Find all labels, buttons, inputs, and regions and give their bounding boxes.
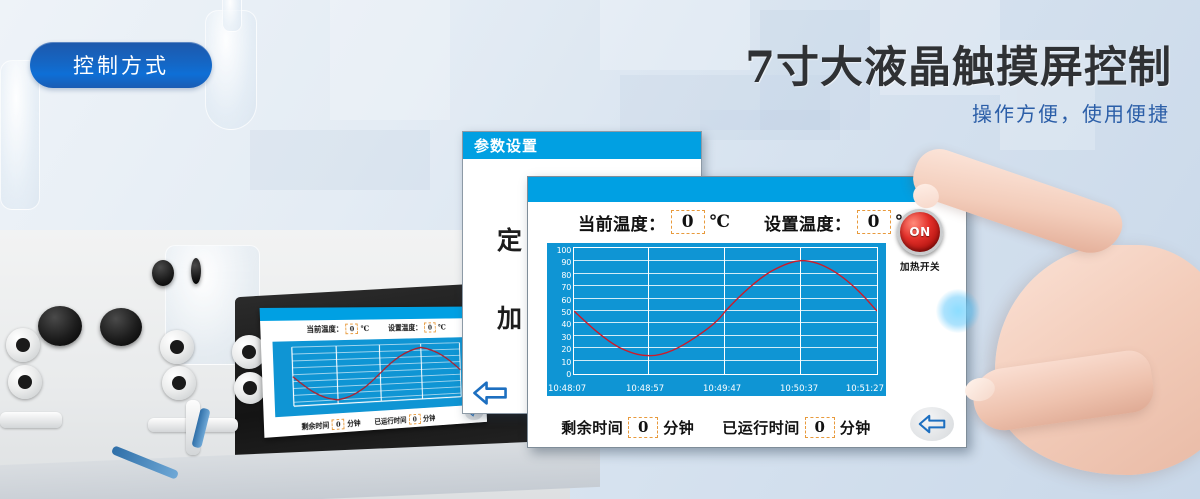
current-temperature-value[interactable]: 0 [671,210,705,234]
x-tick: 10:51:27 [846,384,884,394]
remaining-time-field[interactable]: 剩余时间 0 分钟 [561,417,694,438]
remaining-time-label: 剩余时间 [561,417,623,438]
y-tick: 10 [561,359,571,367]
hmi-main-panel[interactable]: 当前温度： 0 ℃ 设置温度： 0 ℃ ON 加热开关 100 90 80 70… [527,176,967,448]
device-remaining-time: 剩余时间0分钟 [301,417,360,432]
elapsed-time-label: 已运行时间 [722,417,800,438]
x-tick: 10:50:37 [780,384,818,394]
parameter-settings-back-button[interactable] [471,379,511,409]
page-title: 7寸大液晶触摸屏控制 [745,33,1172,95]
hmi-titlebar [528,177,966,202]
device-screen-chart [272,337,467,417]
device-chart-svg [272,337,467,417]
remaining-time-unit: 分钟 [663,417,694,438]
current-temperature-field[interactable]: 当前温度： 0 ℃ [578,210,730,235]
y-tick: 30 [561,334,571,342]
device-embedded-screen[interactable]: 当前温度：0℃ 设置温度：0℃ [260,306,487,437]
y-tick: 50 [561,309,571,317]
y-tick: 0 [566,371,571,379]
arrow-left-icon [471,379,509,407]
x-tick: 10:48:57 [626,384,664,394]
pointing-hand-photo [935,150,1200,499]
parameter-row-timing[interactable]: 定 [497,221,522,257]
temperature-chart: 100 90 80 70 60 50 40 30 20 10 0 [547,243,886,396]
y-tick: 20 [561,346,571,354]
x-tick: 10:49:47 [703,384,741,394]
y-tick: 70 [561,284,571,292]
heat-switch-state: ON [909,225,930,239]
elapsed-time-unit: 分钟 [840,417,871,438]
device-set-temp: 设置温度：0℃ [388,322,446,333]
y-tick: 40 [561,321,571,329]
chart-x-axis-labels: 10:48:07 10:48:57 10:49:47 10:50:37 10:5… [547,380,886,394]
parameter-row-heating[interactable]: 加 [497,299,522,335]
set-temperature-label: 设置温度： [764,210,852,235]
current-temperature-unit: ℃ [710,212,730,232]
device-screen-temp-row: 当前温度：0℃ 设置温度：0℃ [260,318,484,339]
chart-plot-area [573,247,878,375]
device-current-temp: 当前温度：0℃ [306,323,369,335]
remaining-time-value[interactable]: 0 [628,417,658,438]
y-tick: 80 [561,272,571,280]
y-tick: 90 [561,259,571,267]
chart-y-axis-labels: 100 90 80 70 60 50 40 30 20 10 0 [549,247,571,375]
current-temperature-label: 当前温度： [578,210,666,235]
set-temperature-value[interactable]: 0 [857,210,891,234]
y-tick: 60 [561,297,571,305]
parameter-settings-title: 参数设置 [474,135,538,156]
elapsed-time-field[interactable]: 已运行时间 0 分钟 [722,417,871,438]
x-tick: 10:48:07 [548,384,586,394]
control-method-badge: 控制方式 [30,42,212,88]
time-row: 剩余时间 0 分钟 已运行时间 0 分钟 [528,412,966,442]
temperature-curve [574,248,877,374]
device-elapsed-time: 已运行时间0分钟 [374,412,435,426]
control-method-badge-label: 控制方式 [73,50,169,80]
parameter-settings-titlebar: 参数设置 [463,132,701,159]
y-tick: 100 [557,247,571,255]
elapsed-time-value[interactable]: 0 [805,417,835,438]
page-subtitle: 操作方便，使用便捷 [972,98,1170,127]
